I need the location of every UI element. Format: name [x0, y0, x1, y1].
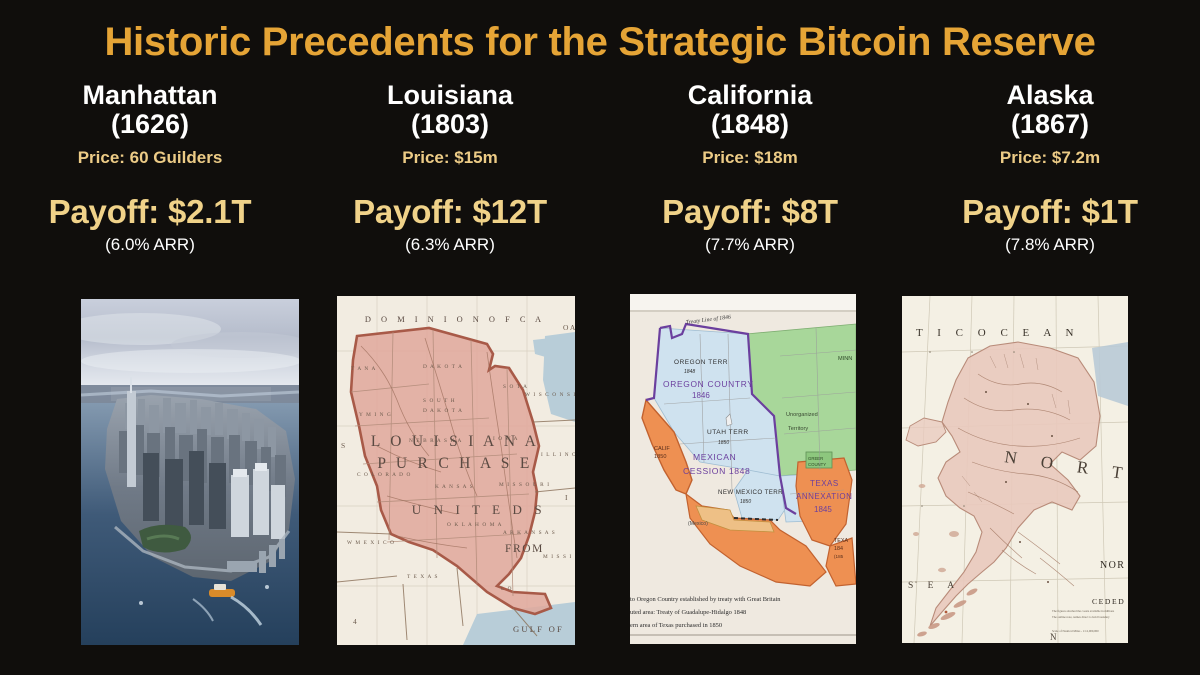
- price-label: Price: $15m: [300, 148, 600, 168]
- map-label-oregon-country: OREGON COUNTRY: [663, 379, 754, 389]
- svg-text:S O T A: S O T A: [503, 384, 528, 390]
- map-legend-line-3: ern area of Texas purchased in 1850: [630, 622, 722, 629]
- arr-label: (7.7% ARR): [600, 235, 900, 255]
- svg-text:1850: 1850: [654, 454, 666, 460]
- map-label-unorganized: Unorganized: [786, 412, 818, 418]
- map-title-line3: U N I T E D S: [412, 502, 546, 517]
- map-label-nor: NOR: [1100, 560, 1125, 571]
- svg-text:T A N A: T A N A: [351, 366, 376, 372]
- svg-text:Y M I N G: Y M I N G: [359, 412, 392, 418]
- acquisition-year: (1803): [300, 109, 600, 141]
- place-name: Alaska: [900, 82, 1200, 109]
- payoff-label: Payoff: $2.1T: [0, 193, 300, 231]
- svg-text:4: 4: [353, 617, 357, 626]
- arr-label: (7.8% ARR): [900, 235, 1200, 255]
- svg-text:Territory: Territory: [788, 426, 808, 432]
- svg-text:A R K A N S A S: A R K A N S A S: [503, 530, 556, 536]
- map-label-oregon-terr: OREGON TERR: [674, 359, 728, 366]
- map-label-arctic-ocean: T I C O C E A N: [916, 327, 1079, 339]
- svg-text:O K L A H O M A: O K L A H O M A: [447, 522, 503, 528]
- svg-text:1848: 1848: [684, 369, 695, 375]
- price-label: Price: 60 Guilders: [0, 148, 300, 168]
- acquisition-year: (1848): [600, 109, 900, 141]
- map-title-line2: P U R C H A S E: [377, 455, 532, 472]
- map-label-texas-annexation: TEXAS: [810, 479, 839, 488]
- svg-text:W M E X I C O: W M E X I C O: [347, 540, 395, 546]
- svg-text:184: 184: [834, 546, 843, 552]
- svg-text:D A K O T A: D A K O T A: [423, 408, 463, 414]
- svg-text:N E B R A S K A: N E B R A S K A: [409, 438, 462, 444]
- map-label-from: FROM: [505, 543, 544, 555]
- svg-text:C O L O R A D O: C O L O R A D O: [357, 472, 411, 478]
- map-legend-line-1: to Oregon Country established by treaty …: [630, 596, 781, 603]
- place-name: Manhattan: [0, 82, 300, 109]
- place-name: California: [600, 82, 900, 109]
- image-map-western-territorial-acquisitions: Treaty Line of 1846 OREGON TERR 1848 ORE…: [630, 294, 856, 644]
- map-label-gulf: GULF OF: [513, 624, 564, 634]
- svg-text:ANNEXATION: ANNEXATION: [796, 492, 852, 501]
- svg-text:1850: 1850: [740, 499, 751, 505]
- price-label: Price: $18m: [600, 148, 900, 168]
- map-label-greer-county: GREER: [808, 456, 823, 461]
- map-label-utah-terr: UTAH TERR: [707, 429, 749, 436]
- acquisition-year: (1626): [0, 109, 300, 141]
- svg-text:CESSION 1848: CESSION 1848: [683, 466, 750, 476]
- price-label: Price: $7.2m: [900, 148, 1200, 168]
- map-label-mexico: (Mexico): [688, 521, 708, 527]
- slide-root: Historic Precedents for the Strategic Bi…: [0, 0, 1200, 675]
- column-alaska: Alaska (1867) Price: $7.2m Payoff: $1T (…: [900, 82, 1200, 282]
- page-title: Historic Precedents for the Strategic Bi…: [0, 20, 1200, 65]
- svg-text:O A: O A: [563, 323, 575, 332]
- svg-text:K A N S A S: K A N S A S: [435, 484, 474, 490]
- image-antique-map-alaska-cession: T I C O C E A N N O R T H S E A NOR CEDE…: [902, 296, 1128, 643]
- place-name: Louisiana: [300, 82, 600, 109]
- svg-text:1846: 1846: [692, 391, 710, 400]
- map-legend-line-2: uted area: Treaty of Guadalupe-Hidalgo 1…: [630, 609, 746, 616]
- column-manhattan: Manhattan (1626) Price: 60 Guilders Payo…: [0, 82, 300, 282]
- image-aerial-photo-lower-manhattan: [81, 299, 299, 645]
- svg-text:S O U T H: S O U T H: [423, 398, 456, 404]
- image-antique-map-louisiana-purchase: L O U I S I A N A P U R C H A S E U N I …: [337, 296, 575, 645]
- svg-text:I O W A: I O W A: [493, 436, 519, 442]
- payoff-label: Payoff: $12T: [300, 193, 600, 231]
- svg-text:M I S S O U R I: M I S S O U R I: [499, 482, 550, 488]
- map-label-mexican-cession: MEXICAN: [693, 452, 736, 462]
- map-label-calif: CALIF: [654, 446, 670, 452]
- svg-text:L O: L O: [501, 586, 513, 592]
- precedent-columns: Manhattan (1626) Price: 60 Guilders Payo…: [0, 82, 1200, 282]
- column-louisiana: Louisiana (1803) Price: $15m Payoff: $12…: [300, 82, 600, 282]
- payoff-label: Payoff: $1T: [900, 193, 1200, 231]
- svg-text:(185: (185: [834, 554, 844, 559]
- map-label-ceded: CEDED: [1092, 597, 1125, 606]
- map-label-new-mexico-terr: NEW MEXICO TERR: [718, 489, 783, 496]
- svg-text:M I S S I S S I P P I: M I S S I S S I P P I: [543, 554, 575, 560]
- svg-text:The figures attached the coast: The figures attached the coasts availabl…: [1052, 609, 1115, 613]
- payoff-label: Payoff: $8T: [600, 193, 900, 231]
- acquisition-year: (1867): [900, 109, 1200, 141]
- svg-text:1850: 1850: [718, 440, 729, 446]
- svg-text:S: S: [341, 441, 345, 450]
- map-label-minn: MINN: [838, 356, 852, 362]
- svg-text:I L L I N O I S: I L L I N O I S: [541, 452, 575, 458]
- svg-text:1845: 1845: [814, 505, 832, 514]
- svg-text:W I S C O N S I N: W I S C O N S I N: [525, 392, 575, 398]
- map-label-texas-1845: TEXA: [834, 538, 848, 544]
- column-california: California (1848) Price: $18m Payoff: $8…: [600, 82, 900, 282]
- svg-text:N: N: [1050, 632, 1057, 642]
- map-top-banner: D O M I N I O N O F C A: [365, 315, 545, 324]
- svg-text:T E X A S: T E X A S: [407, 574, 439, 580]
- svg-text:COUNTY: COUNTY: [808, 462, 826, 467]
- arr-label: (6.3% ARR): [300, 235, 600, 255]
- svg-text:D A K O T A: D A K O T A: [423, 364, 463, 370]
- arr-label: (6.0% ARR): [0, 235, 300, 255]
